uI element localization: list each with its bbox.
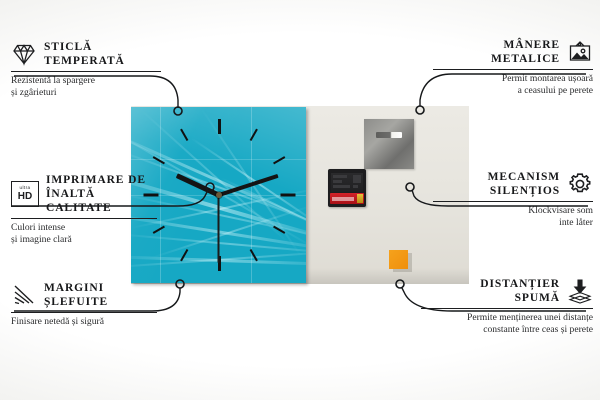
- callout-tempered-glass: STICLĂ TEMPERATĂ Rezistentă la spargere …: [11, 40, 161, 98]
- ultra-hd-badge-icon: ultra HD: [11, 181, 39, 207]
- callout-rule: [11, 218, 157, 219]
- gear-icon: [567, 171, 593, 197]
- callout-rule: [433, 69, 593, 70]
- foam-spacer-pad: [389, 250, 408, 269]
- diamond-icon: [11, 41, 37, 67]
- quartz-mechanism: [328, 169, 366, 207]
- infographic-canvas: STICLĂ TEMPERATĂ Rezistentă la spargere …: [0, 0, 600, 400]
- clock-center-hub: [216, 192, 222, 198]
- clock-second-hand: [218, 195, 220, 263]
- callout-title: MARGINI ȘLEFUITE: [44, 281, 108, 309]
- callout-title: MÂNERE METALICE: [491, 38, 560, 66]
- callout-title: IMPRIMARE DE ÎNALTĂ CALITATE: [46, 173, 157, 215]
- callout-rule: [433, 201, 593, 202]
- callout-description: Finisare netedă și sigură: [11, 316, 157, 328]
- battery-label: [332, 197, 354, 201]
- callout-title: STICLĂ TEMPERATĂ: [44, 40, 125, 68]
- callout-polished-edges: MARGINI ȘLEFUITE Finisare netedă și sigu…: [11, 281, 157, 328]
- callout-title: DISTANȚIER SPUMĂ: [480, 277, 560, 305]
- callout-description: Culori intense și imagine clară: [11, 222, 157, 245]
- callout-title: MECANISM SILENȚIOS: [488, 170, 560, 198]
- callout-description: Klockvisare som inte låter: [433, 205, 593, 228]
- polished-edges-icon: [11, 282, 37, 308]
- callout-high-quality-print: ultra HD IMPRIMARE DE ÎNALTĂ CALITATE Cu…: [11, 173, 157, 245]
- picture-hanger-icon: [567, 39, 593, 65]
- badge-hd-text: HD: [18, 192, 32, 202]
- battery-terminal: [357, 194, 363, 203]
- hanger-slot: [376, 132, 402, 138]
- callout-description: Permit montarea ușoară a ceasului pe per…: [433, 73, 593, 96]
- callout-metal-handles: MÂNERE METALICE Permit montarea ușoară a…: [433, 38, 593, 96]
- callout-silent-mechanism: MECANISM SILENȚIOS Klockvisare som inte …: [433, 170, 593, 228]
- glass-wall-clock: [131, 107, 306, 283]
- product-photo: [131, 106, 469, 284]
- callout-rule: [421, 308, 593, 309]
- callout-description: Permite menținerea unei distanțe constan…: [421, 312, 593, 335]
- callout-rule: [11, 71, 161, 72]
- metal-hanger-plate: [364, 119, 414, 169]
- callout-description: Rezistentă la spargere și zgârieturi: [11, 75, 161, 98]
- foam-spacer-arrow-icon: [567, 278, 593, 304]
- aa-battery: [330, 193, 364, 204]
- mechanism-body: [331, 173, 363, 192]
- callout-foam-spacer: DISTANȚIER SPUMĂ Permite menținerea unei…: [421, 277, 593, 335]
- callout-rule: [11, 312, 157, 313]
